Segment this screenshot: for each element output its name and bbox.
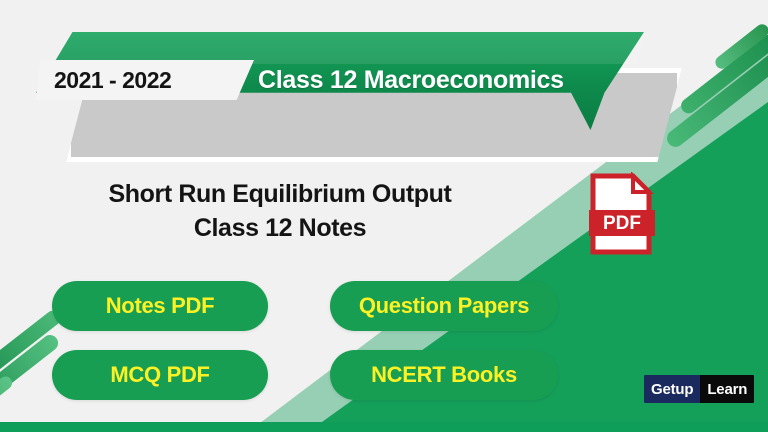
question-papers-button[interactable]: Question Papers [330,281,558,331]
decorative-stripe-top-right-2 [664,51,768,151]
subject-title: Class 12 Macroeconomics [258,60,564,100]
decorative-stripe-bottom-left-3 [0,374,15,427]
pdf-label-text: PDF [603,213,641,234]
page-title: Short Run Equilibrium Output Class 12 No… [0,178,560,245]
page-title-line-1: Short Run Equilibrium Output [109,180,452,208]
pdf-folded-corner [633,176,649,192]
brand-logo-getup: Getup [644,375,700,403]
academic-year-label: 2021 - 2022 [54,67,171,94]
decorative-stripe-top-right-1 [678,31,768,117]
academic-year-tag: 2021 - 2022 [36,60,254,100]
page-title-line-2: Class 12 Notes [0,212,560,246]
poster-canvas: 2021 - 2022 Class 12 Macroeconomics Shor… [0,0,768,432]
notes-pdf-button[interactable]: Notes PDF [52,281,268,331]
pdf-file-icon: PDF [589,172,655,256]
brand-logo[interactable]: Getup Learn [644,375,754,403]
mcq-pdf-button[interactable]: MCQ PDF [52,350,268,400]
decorative-stripe-top-right-3 [713,22,768,72]
subject-banner: 2021 - 2022 Class 12 Macroeconomics [36,32,676,154]
ncert-books-button[interactable]: NCERT Books [330,350,558,400]
brand-logo-learn: Learn [700,375,754,403]
bottom-accent-bar [0,422,768,432]
